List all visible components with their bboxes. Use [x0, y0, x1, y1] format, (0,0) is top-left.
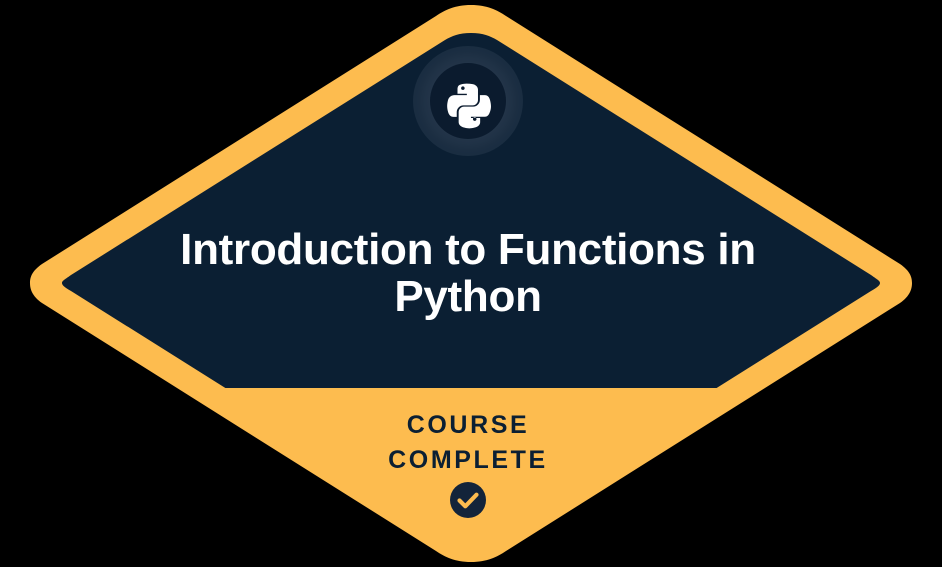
course-title-line-2: Python — [394, 272, 541, 321]
status-label-line-2: COMPLETE — [388, 446, 548, 474]
badge-stage: Introduction to Functions in Python COUR… — [0, 0, 942, 567]
check-mark-icon — [450, 482, 486, 518]
status-label-line-1: COURSE — [407, 411, 530, 439]
course-completion-badge: Introduction to Functions in Python COUR… — [0, 0, 942, 567]
course-title-line-1: Introduction to Functions in — [180, 225, 756, 274]
